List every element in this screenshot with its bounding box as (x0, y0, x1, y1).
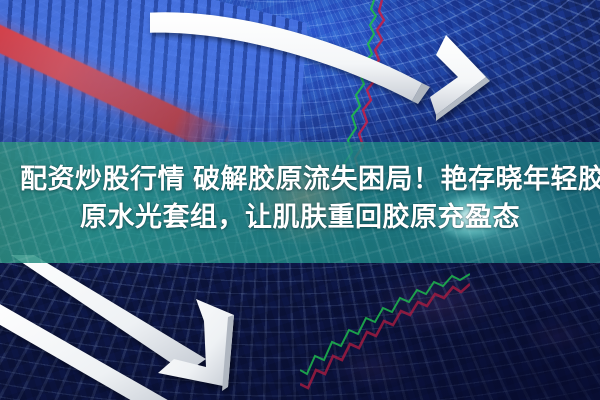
banner-image: 配资炒股行情 破解胶原流失困局！艳存晓年轻胶 原水光套组，让肌肤重回胶原充盈态 (0, 0, 600, 400)
stock-trace-red-lower (300, 268, 470, 400)
headline-line-1: 配资炒股行情 破解胶原流失困局！艳存晓年轻胶 (0, 160, 600, 198)
page-title: 配资炒股行情 破解胶原流失困局！艳存晓年轻胶 原水光套组，让肌肤重回胶原充盈态 (0, 160, 600, 236)
headline-line-2: 原水光套组，让肌肤重回胶原充盈态 (0, 198, 600, 236)
arrow-up-right-icon (150, 5, 510, 140)
arrow-down-right-icon (0, 255, 290, 400)
